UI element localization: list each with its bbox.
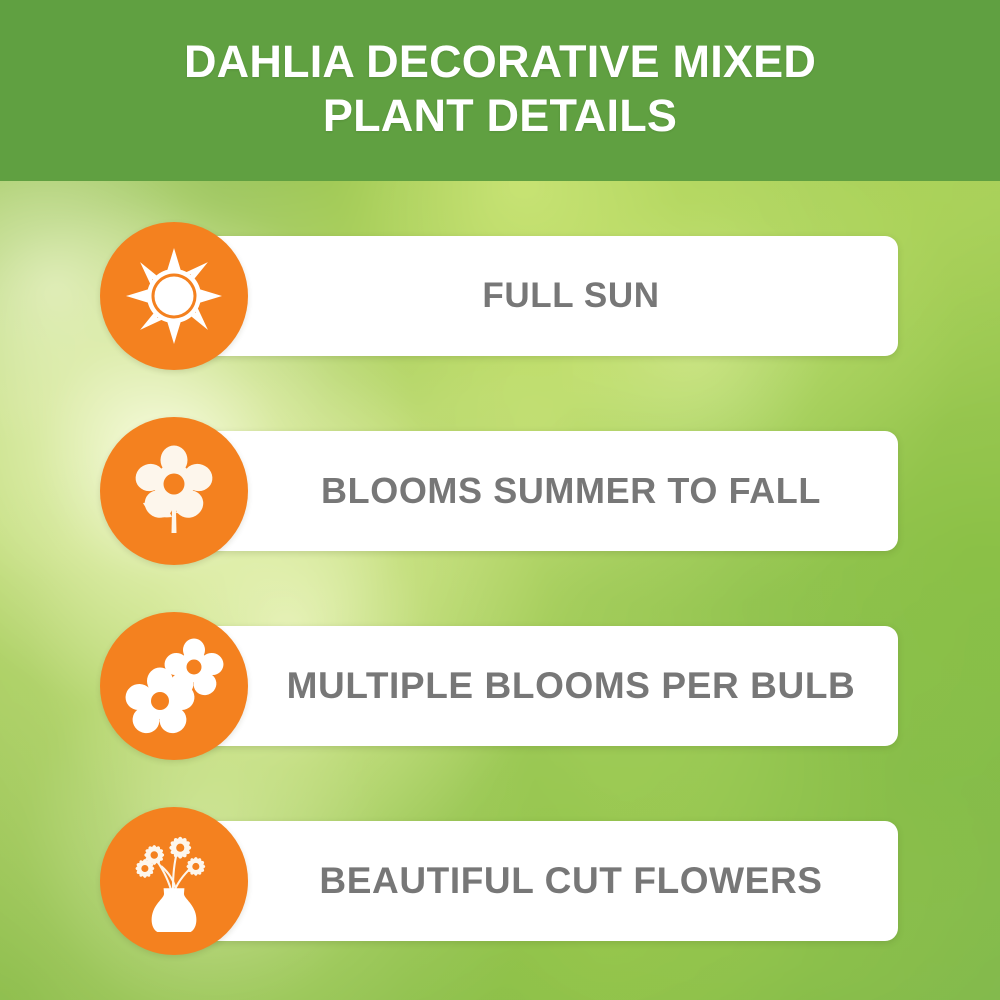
feature-card: FULL SUN: [168, 236, 898, 356]
feature-card: BEAUTIFUL CUT FLOWERS: [168, 821, 898, 941]
feature-icon-badge: [100, 612, 248, 760]
feature-icon-badge: [100, 417, 248, 565]
plant-details-infographic: DAHLIA DECORATIVE MIXED PLANT DETAILS FU…: [0, 0, 1000, 1000]
feature-row: MULTIPLE BLOOMS PER BULB: [0, 612, 1000, 792]
page-title: DAHLIA DECORATIVE MIXED PLANT DETAILS: [184, 35, 816, 141]
vase-with-flowers-icon: [122, 829, 226, 933]
flower-with-stem-icon: [124, 441, 224, 541]
page-title-line-1: DAHLIA DECORATIVE MIXED: [184, 36, 816, 87]
feature-card: MULTIPLE BLOOMS PER BULB: [168, 626, 898, 746]
feature-icon-badge: [100, 807, 248, 955]
page-title-line-2: PLANT DETAILS: [323, 90, 677, 141]
two-flowers-icon: [124, 636, 224, 736]
feature-label: MULTIPLE BLOOMS PER BULB: [287, 665, 856, 707]
feature-row: FULL SUN: [0, 222, 1000, 402]
feature-card: BLOOMS SUMMER TO FALL: [168, 431, 898, 551]
feature-row: BEAUTIFUL CUT FLOWERS: [0, 807, 1000, 987]
feature-row: BLOOMS SUMMER TO FALL: [0, 417, 1000, 597]
sun-icon: [124, 246, 224, 346]
feature-label: BEAUTIFUL CUT FLOWERS: [319, 860, 822, 902]
header-band: DAHLIA DECORATIVE MIXED PLANT DETAILS: [0, 0, 1000, 181]
feature-label: BLOOMS SUMMER TO FALL: [321, 470, 821, 512]
feature-label: FULL SUN: [482, 276, 659, 316]
feature-icon-badge: [100, 222, 248, 370]
